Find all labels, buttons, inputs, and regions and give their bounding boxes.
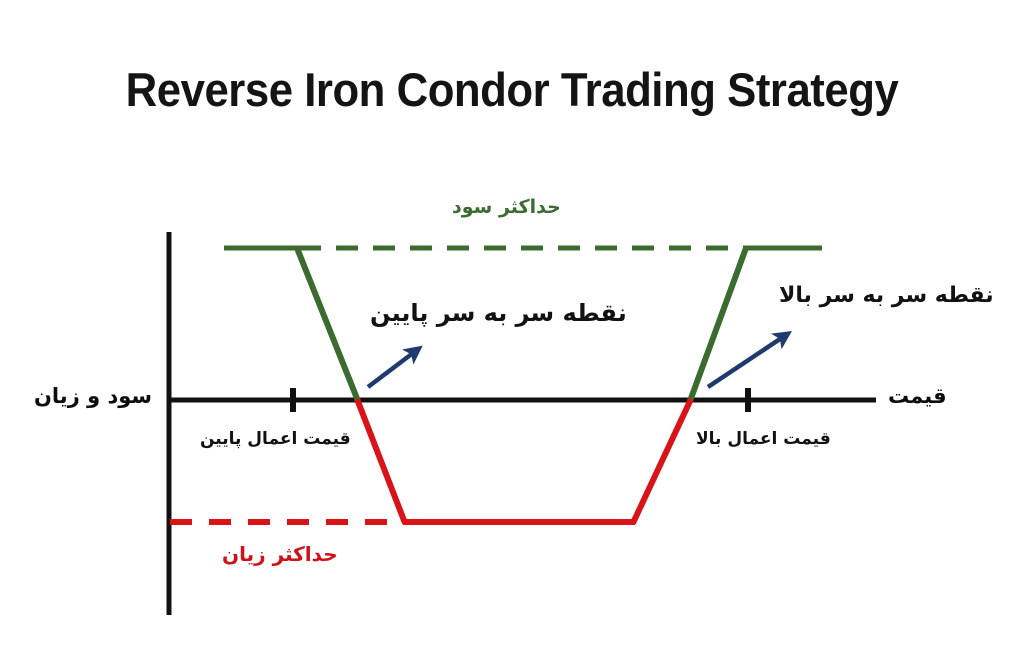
- loss-ascending-slope: [633, 399, 691, 523]
- x-axis-label: قیمت: [888, 384, 947, 408]
- chart-page: Reverse Iron Condor Trading Strategy: [0, 0, 1024, 670]
- max-profit-label: حداکثر سود: [452, 196, 561, 218]
- upper-strike-price-label: قیمت اعمال بالا: [696, 429, 831, 449]
- payoff-diagram: [0, 0, 1024, 670]
- loss-payoff-line: [170, 399, 691, 523]
- upper-breakeven-arrow-icon: [708, 335, 786, 387]
- max-loss-label: حداکثر زیان: [222, 542, 338, 566]
- loss-descending-slope: [357, 399, 405, 523]
- lower-breakeven-arrow-icon: [368, 350, 417, 387]
- upper-breakeven-label: نقطه سر به سر بالا: [779, 283, 994, 308]
- lower-strike-price-label: قیمت اعمال پایین: [200, 429, 351, 449]
- lower-breakeven-label: نقطه سر به سر پایین: [370, 299, 627, 327]
- profit-descending-slope: [297, 248, 358, 401]
- y-axis-label: سود و زیان: [34, 384, 152, 408]
